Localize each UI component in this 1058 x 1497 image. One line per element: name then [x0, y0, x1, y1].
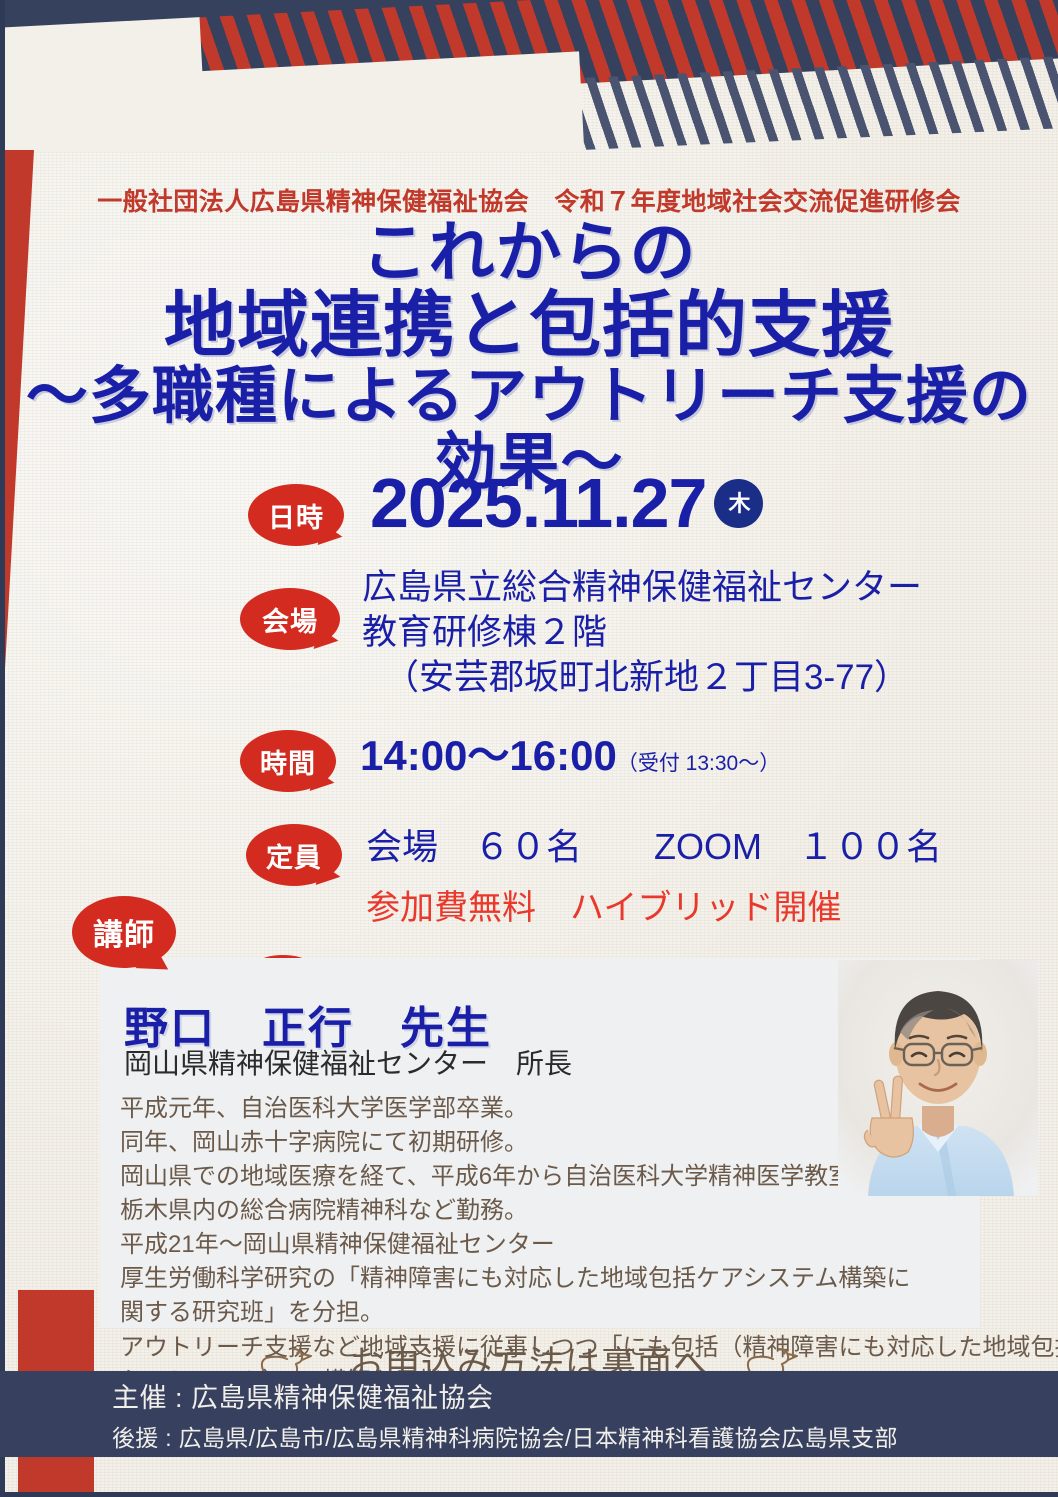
capacity-fee-line: 参加費無料 ハイブリッド開催 — [366, 880, 942, 929]
venue-line-3: （安芸郡坂町北新地２丁目3-77） — [362, 656, 922, 701]
lecturer-photo — [838, 960, 1038, 1196]
date-label-bubble: 日時 — [248, 484, 344, 546]
day-of-week-badge: 木 — [714, 479, 763, 528]
time-label-bubble: 時間 — [240, 730, 336, 792]
info-row-date: 日時 2025.11.27木 — [0, 468, 1058, 546]
capacity-label-bubble: 定員 — [246, 824, 342, 886]
organizer-subheading: 一般社団法人広島県精神保健福祉協会 令和７年度地域社会交流促進研修会 — [0, 182, 1058, 218]
capacity-seats-line: 会場 ６０名 ZOOM １００名 — [366, 818, 942, 870]
venue-line-1: 広島県立総合精神保健福祉センター — [362, 566, 922, 611]
venue-value: 広島県立総合精神保健福祉センター 教育研修棟２階 （安芸郡坂町北新地２丁目3-7… — [362, 566, 922, 700]
bio-line: 同年、岡山赤十字病院にて初期研修。 — [120, 1126, 950, 1160]
bio-line: 平成21年〜岡山県精神保健福祉センター — [120, 1228, 950, 1262]
lecturer-label-bubble: 講師 — [72, 896, 176, 968]
top-striped-banner — [0, 0, 1058, 152]
poster-footer: 主催 : 広島県精神保健福祉協会 後援 : 広島県/広島市/広島県精神科病院協会… — [0, 1371, 1058, 1457]
bio-line: 栃木県内の総合病院精神科など勤務。 — [120, 1194, 950, 1228]
time-value-wrapper: 14:00〜16:00（受付 13:30〜） — [360, 722, 780, 783]
date-value: 2025.11.27 — [370, 464, 706, 542]
capacity-value: 会場 ６０名 ZOOM １００名 参加費無料 ハイブリッド開催 — [366, 818, 942, 929]
event-poster: 一般社団法人広島県精神保健福祉協会 令和７年度地域社会交流促進研修会 これからの… — [0, 0, 1058, 1497]
footer-host: 主催 : 広島県精神保健福祉協会 — [112, 1376, 1058, 1415]
footer-support: 後援 : 広島県/広島市/広島県精神科病院協会/日本精神科看護協会広島県支部 — [112, 1419, 1058, 1453]
title-line-2: 地域連携と包括的支援 — [0, 288, 1058, 364]
info-row-time: 時間 14:00〜16:00（受付 13:30〜） — [0, 722, 1058, 792]
bio-line: 関する研究班」を分担。 — [120, 1296, 950, 1330]
venue-label-bubble: 会場 — [240, 588, 340, 650]
title-line-1: これからの — [0, 218, 1058, 288]
poster-title: これからの 地域連携と包括的支援 〜多職種によるアウトリーチ支援の効果〜 — [0, 218, 1058, 496]
bio-line: 岡山県での地域医療を経て、平成6年から自治医科大学精神医学教室大学院、 — [120, 1160, 950, 1194]
banner-left-mask-upper — [0, 17, 206, 152]
time-reception-note: （受付 13:30〜） — [617, 752, 780, 775]
time-value: 14:00〜16:00 — [360, 732, 617, 779]
venue-line-2: 教育研修棟２階 — [362, 611, 922, 656]
bottom-navy-line — [0, 1492, 1058, 1497]
bio-line: 平成元年、自治医科大学医学部卒業。 — [120, 1092, 950, 1126]
date-value-wrapper: 2025.11.27木 — [370, 468, 763, 538]
info-row-venue: 会場 広島県立総合精神保健福祉センター 教育研修棟２階 （安芸郡坂町北新地２丁目… — [0, 566, 1058, 700]
lecturer-affiliation: 岡山県精神保健福祉センター 所長 — [124, 1042, 572, 1082]
bio-line: 厚生労働科学研究の「精神障害にも対応した地域包括ケアシステム構築に — [120, 1262, 950, 1296]
